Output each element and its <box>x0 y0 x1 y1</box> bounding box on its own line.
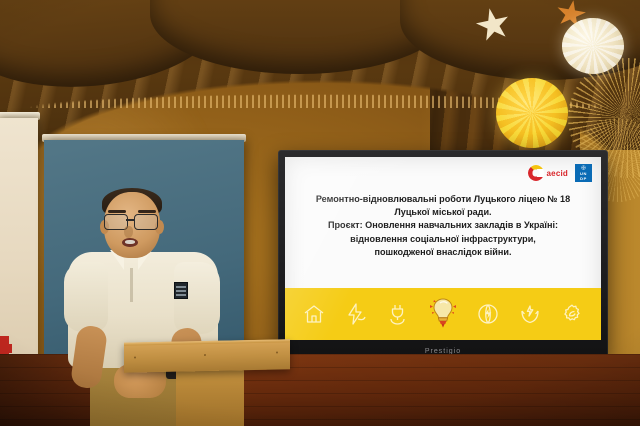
aecid-logo: aecid <box>528 165 568 181</box>
slide-line-5: пошкодженої внаслідок війни. <box>295 246 591 259</box>
speaker-brow-right <box>138 210 156 213</box>
banner-red-accent-2 <box>0 344 12 353</box>
gear-leaf-icon <box>560 302 584 326</box>
plug-in-hand-icon <box>386 302 410 326</box>
aecid-mark-icon <box>528 165 544 181</box>
undp-logo-line2: DP <box>580 177 587 181</box>
undp-logo: UN DP <box>575 164 592 182</box>
energy-bolt-icon <box>344 302 368 326</box>
lightbulb-idea-icon <box>428 296 458 330</box>
speaker-brow-left <box>108 210 126 213</box>
slide-line-3: Проєкт: Оновлення навчальних закладів в … <box>295 219 591 232</box>
lightbulb-glyph <box>428 296 458 330</box>
glasses-lens-right <box>134 214 158 230</box>
house-icon <box>302 302 326 326</box>
slide-icon-band <box>285 288 601 340</box>
tv-screen[interactable]: aecid UN DP Ремонтно-відновлювальні р <box>285 157 601 340</box>
slide-line-1: Ремонтно-відновлювальні роботи Луцького … <box>295 193 591 206</box>
slide-text-block: Ремонтно-відновлювальні роботи Луцького … <box>295 193 591 259</box>
speaker-nose <box>124 226 133 238</box>
slide-line-4: відновлення соціальної інфраструктури, <box>295 233 591 246</box>
paper-flower-yellow <box>496 78 568 148</box>
aecid-label: aecid <box>547 169 568 178</box>
slide-line-2: Луцької міської ради. <box>295 206 591 219</box>
slide-logo-group: aecid UN DP <box>528 164 592 182</box>
lectern-body <box>176 368 244 426</box>
lectern-shelf <box>124 339 290 372</box>
shirt-badge <box>174 282 188 299</box>
photo-scene: UNDP www. @ цій aecid <box>0 0 640 426</box>
speaker-shirt-placket <box>130 268 133 302</box>
glasses-icon <box>104 214 162 229</box>
presentation-tv[interactable]: aecid UN DP Ремонтно-відновлювальні р <box>278 150 608 358</box>
speaker-sleeve-left <box>64 262 108 332</box>
globe-bolt-icon <box>476 302 500 326</box>
hands-bolt-icon <box>518 302 542 326</box>
paper-flower-white <box>562 18 624 74</box>
glasses-bridge <box>126 219 134 221</box>
speaker-teeth <box>125 240 135 244</box>
